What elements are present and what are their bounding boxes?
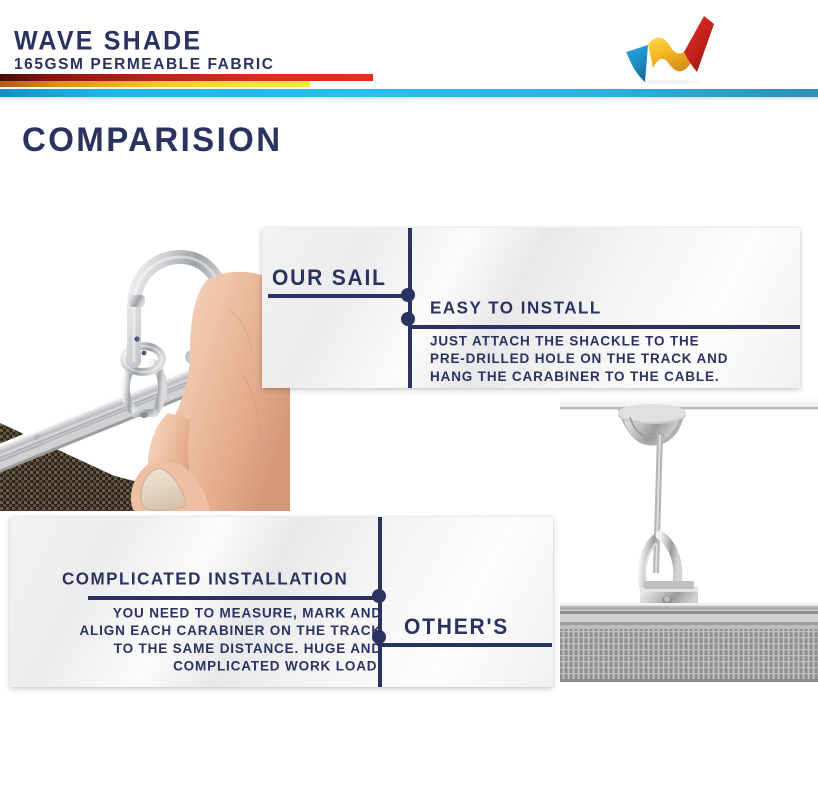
wave-w-logo-icon (618, 12, 722, 86)
others-label: OTHER'S (404, 615, 509, 640)
brand-title: WAVE SHADE (14, 26, 202, 57)
ceiling-cable-clamp-illustration (560, 395, 818, 682)
others-label-underline (382, 643, 552, 647)
header-stripe-yellow (0, 81, 310, 87)
others-photo (560, 395, 818, 682)
our-sail-heading-underline (412, 325, 800, 329)
page-header: WAVE SHADE 165GSM PERMEABLE FABRIC (0, 0, 818, 100)
page-title: COMPARISION (22, 120, 282, 160)
hand-carabiner-track-illustration (0, 213, 290, 511)
our-sail-description: JUST ATTACH THE SHACKLE TO THE PRE-DRILL… (430, 332, 802, 385)
others-heading: COMPLICATED INSTALLATION (62, 569, 348, 590)
others-heading-underline (88, 596, 382, 600)
our-sail-divider-line (408, 228, 412, 388)
our-sail-label-underline (268, 294, 410, 298)
our-sail-label: OUR SAIL (272, 266, 387, 291)
header-stripe-red (0, 74, 373, 81)
others-description: YOU NEED TO MEASURE, MARK AND ALIGN EACH… (18, 604, 382, 675)
our-sail-heading: EASY TO INSTALL (430, 298, 602, 319)
our-sail-photo (0, 213, 290, 511)
comparison-page: WAVE SHADE 165GSM PERMEABLE FABRIC (0, 0, 818, 800)
our-sail-card: OUR SAIL EASY TO INSTALL JUST ATTACH THE… (262, 228, 800, 388)
others-card: COMPLICATED INSTALLATION YOU NEED TO MEA… (10, 517, 553, 687)
our-sail-node-dot-bottom (401, 312, 415, 326)
brand-subtitle: 165GSM PERMEABLE FABRIC (14, 56, 274, 74)
header-stripe-cyan (0, 89, 818, 97)
